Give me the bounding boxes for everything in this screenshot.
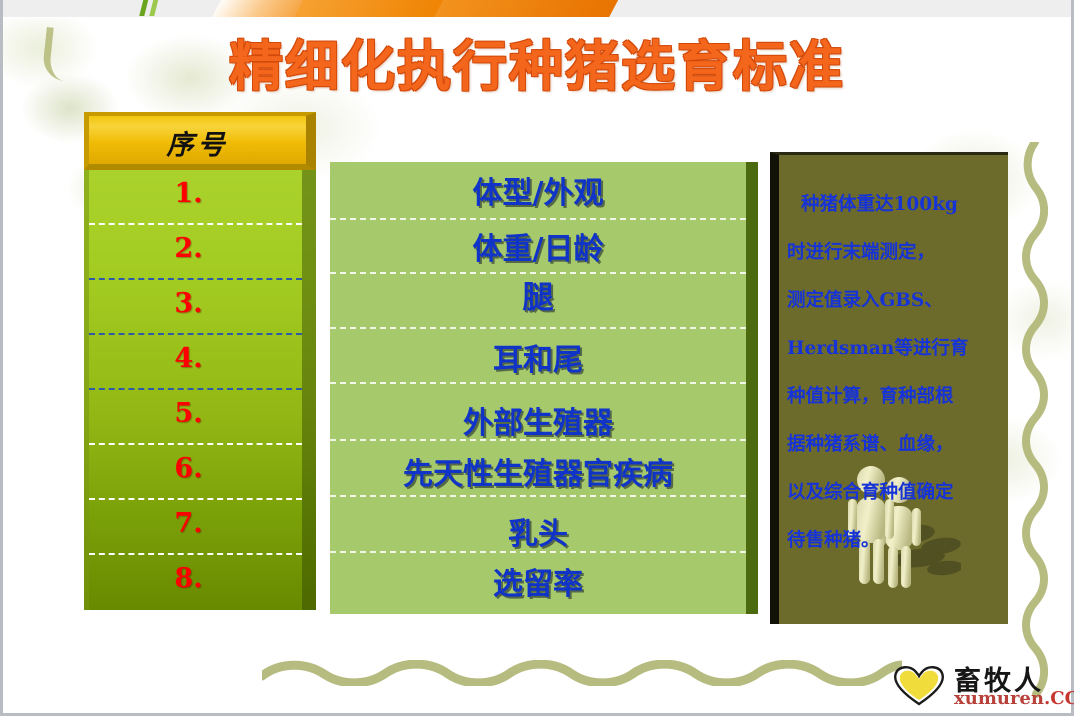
serial-number-value: 2. — [89, 233, 288, 264]
page-title: 精细化执行种猪选育标准 — [0, 22, 1074, 101]
criteria-row: 耳和尾 — [330, 329, 746, 384]
criteria-column: 体型/外观 体重/日龄 腿 耳和尾 外部生殖器 先天性生殖器官疾病 乳头 选留率 — [330, 162, 758, 614]
logo-domain-name: xumuren — [954, 688, 1044, 709]
serial-row: 1. — [89, 170, 302, 225]
criteria-label: 先天性生殖器官疾病 — [330, 449, 746, 493]
description-line: 待售种猪。 — [787, 517, 1002, 565]
description-line: 测定值录入GBS、 — [787, 277, 1002, 325]
description-line: 据种猪系谱、血缘， — [787, 421, 1002, 469]
description-line: 种猪体重达100kg — [787, 181, 1002, 229]
description-line: Herdsman等进行育 — [787, 325, 1002, 373]
serial-row: 8. — [89, 555, 302, 610]
ribbon-shape-c — [432, 0, 623, 18]
top-ribbon-band — [0, 0, 1074, 18]
heart-icon — [890, 662, 948, 706]
criteria-label: 乳头 — [330, 509, 746, 553]
serial-number-value: 4. — [89, 343, 288, 374]
serial-number-column: 序号 1. 2. 3. 4. 5. 6. 7. 8. — [84, 112, 316, 610]
criteria-row: 外部生殖器 — [330, 384, 746, 441]
criteria-row: 体重/日龄 — [330, 220, 746, 274]
description-line: 种值计算，育种部根 — [787, 373, 1002, 421]
criteria-label: 选留率 — [330, 559, 746, 603]
serial-row: 3. — [89, 280, 302, 335]
wavy-divider-right — [1022, 142, 1048, 702]
description-line: 时进行末端测定， — [787, 229, 1002, 277]
serial-number-header: 序号 — [84, 112, 316, 170]
serial-number-header-label: 序号 — [89, 123, 306, 162]
serial-row: 6. — [89, 445, 302, 500]
serial-row: 2. — [89, 225, 302, 280]
serial-row: 5. — [89, 390, 302, 445]
serial-number-value: 1. — [89, 178, 288, 209]
serial-number-value: 8. — [89, 563, 288, 594]
criteria-row: 先天性生殖器官疾病 — [330, 441, 746, 497]
serial-number-value: 3. — [89, 288, 288, 319]
serial-row: 7. — [89, 500, 302, 555]
criteria-label: 腿 — [330, 272, 746, 317]
criteria-row: 乳头 — [330, 497, 746, 553]
serial-number-value: 7. — [89, 508, 288, 539]
serial-number-list: 1. 2. 3. 4. 5. 6. 7. 8. — [84, 170, 316, 610]
criteria-label: 体重/日龄 — [330, 224, 746, 268]
criteria-label: 外部生殖器 — [330, 398, 746, 442]
criteria-row: 体型/外观 — [330, 162, 746, 220]
slide-canvas: 精细化执行种猪选育标准 序号 1. 2. 3. 4. 5. 6. 7. 8. 体… — [0, 0, 1074, 716]
wavy-divider-bottom — [262, 660, 902, 686]
criteria-label: 耳和尾 — [330, 335, 746, 379]
description-panel: 种猪体重达100kg 时进行末端测定， 测定值录入GBS、 Herdsman等进… — [770, 152, 1008, 624]
serial-row: 4. — [89, 335, 302, 390]
criteria-row: 腿 — [330, 274, 746, 329]
slide-border-left — [0, 0, 3, 716]
description-line: 以及综合育种值确定 — [787, 469, 1002, 517]
criteria-row: 选留率 — [330, 553, 746, 604]
serial-number-value: 5. — [89, 398, 288, 429]
logo-english-text: xumuren.COM — [954, 688, 1074, 709]
logo-domain-tld: .COM — [1044, 688, 1074, 709]
green-stripe-b — [149, 0, 159, 16]
ribbon-shape-b — [292, 0, 458, 18]
criteria-label: 体型/外观 — [330, 168, 746, 212]
serial-number-value: 6. — [89, 453, 288, 484]
description-text: 种猪体重达100kg 时进行末端测定， 测定值录入GBS、 Herdsman等进… — [787, 181, 1002, 565]
watermark-logo: 畜牧人 xumuren.COM — [882, 658, 1068, 708]
green-stripe-a — [139, 0, 149, 16]
